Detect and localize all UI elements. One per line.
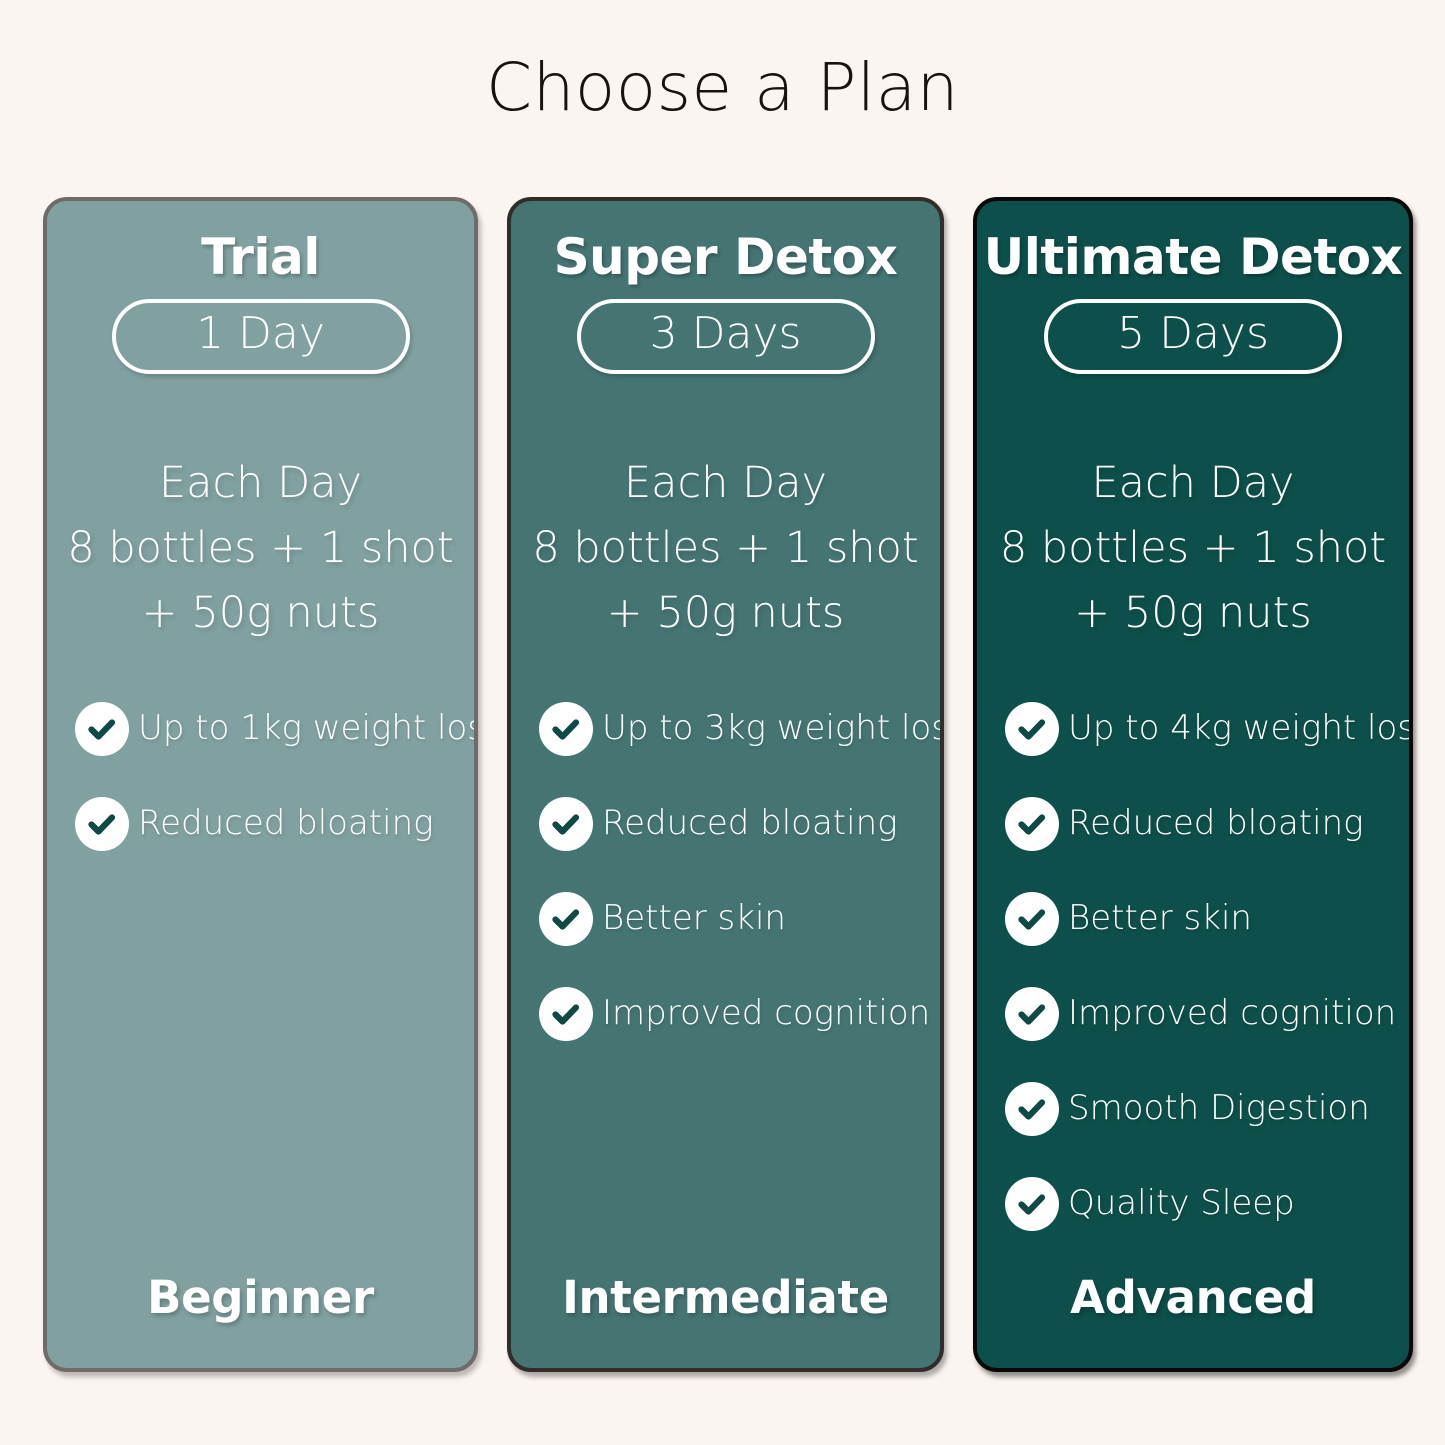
plan-card-super-detox[interactable]: Super Detox 3 Days Each Day 8 bottles + …: [507, 197, 944, 1372]
check-circle-icon: [75, 702, 129, 756]
plan-name: Super Detox: [554, 229, 898, 285]
check-circle-icon: [539, 702, 593, 756]
check-circle-icon: [1005, 892, 1059, 946]
plan-name: Trial: [201, 229, 320, 285]
check-circle-icon: [1005, 987, 1059, 1041]
check-circle-icon: [539, 987, 593, 1041]
plan-level-label: Beginner: [47, 1271, 474, 1324]
plan-feature-list: Up to 1kg weight loss Reduced bloating: [47, 702, 474, 851]
plan-level-label: Intermediate: [511, 1271, 940, 1324]
list-item: Up to 3kg weight loss: [539, 702, 928, 756]
plan-name: Ultimate Detox: [984, 229, 1403, 285]
list-item: Quality Sleep: [1005, 1177, 1397, 1231]
feature-label: Reduced bloating: [1068, 803, 1364, 844]
list-item: Reduced bloating: [75, 797, 462, 851]
page-title: Choose a Plan: [0, 52, 1445, 125]
daily-line-2: + 50g nuts: [67, 581, 453, 646]
feature-label: Improved cognition: [1068, 993, 1396, 1034]
daily-heading: Each Day: [67, 451, 453, 516]
check-circle-icon: [75, 797, 129, 851]
plan-duration-badge: 1 Day: [112, 299, 410, 374]
check-circle-icon: [1005, 1082, 1059, 1136]
list-item: Smooth Digestion: [1005, 1082, 1397, 1136]
feature-label: Reduced bloating: [602, 803, 898, 844]
feature-label: Better skin: [1068, 898, 1252, 939]
list-item: Improved cognition: [539, 987, 928, 1041]
check-circle-icon: [1005, 702, 1059, 756]
list-item: Up to 4kg weight loss: [1005, 702, 1397, 756]
daily-line-2: + 50g nuts: [1000, 581, 1386, 646]
feature-label: Better skin: [602, 898, 786, 939]
feature-label: Up to 4kg weight loss: [1068, 708, 1413, 749]
feature-label: Improved cognition: [602, 993, 930, 1034]
plan-daily-details: Each Day 8 bottles + 1 shot + 50g nuts: [67, 451, 453, 647]
list-item: Reduced bloating: [1005, 797, 1397, 851]
check-circle-icon: [539, 892, 593, 946]
daily-heading: Each Day: [1000, 451, 1386, 516]
list-item: Up to 1kg weight loss: [75, 702, 462, 756]
plan-chooser-page: Choose a Plan Trial 1 Day Each Day 8 bot…: [0, 0, 1445, 1445]
plan-card-list: Trial 1 Day Each Day 8 bottles + 1 shot …: [43, 197, 1413, 1372]
feature-label: Quality Sleep: [1068, 1183, 1295, 1224]
plan-daily-details: Each Day 8 bottles + 1 shot + 50g nuts: [1000, 451, 1386, 647]
daily-line-1: 8 bottles + 1 shot: [67, 516, 453, 581]
list-item: Improved cognition: [1005, 987, 1397, 1041]
daily-heading: Each Day: [532, 451, 918, 516]
check-circle-icon: [539, 797, 593, 851]
plan-duration-badge: 5 Days: [1044, 299, 1342, 374]
feature-label: Reduced bloating: [138, 803, 434, 844]
list-item: Reduced bloating: [539, 797, 928, 851]
daily-line-2: + 50g nuts: [532, 581, 918, 646]
plan-feature-list: Up to 4kg weight loss Reduced bloating B…: [977, 702, 1409, 1231]
daily-line-1: 8 bottles + 1 shot: [1000, 516, 1386, 581]
plan-level-label: Advanced: [977, 1271, 1409, 1324]
plan-card-ultimate-detox[interactable]: Ultimate Detox 5 Days Each Day 8 bottles…: [973, 197, 1413, 1372]
list-item: Better skin: [539, 892, 928, 946]
feature-label: Up to 3kg weight loss: [602, 708, 944, 749]
feature-label: Smooth Digestion: [1068, 1088, 1370, 1129]
check-circle-icon: [1005, 1177, 1059, 1231]
plan-daily-details: Each Day 8 bottles + 1 shot + 50g nuts: [532, 451, 918, 647]
daily-line-1: 8 bottles + 1 shot: [532, 516, 918, 581]
plan-feature-list: Up to 3kg weight loss Reduced bloating B…: [511, 702, 940, 1041]
list-item: Better skin: [1005, 892, 1397, 946]
check-circle-icon: [1005, 797, 1059, 851]
plan-duration-badge: 3 Days: [577, 299, 875, 374]
feature-label: Up to 1kg weight loss: [138, 708, 478, 749]
plan-card-trial[interactable]: Trial 1 Day Each Day 8 bottles + 1 shot …: [43, 197, 478, 1372]
